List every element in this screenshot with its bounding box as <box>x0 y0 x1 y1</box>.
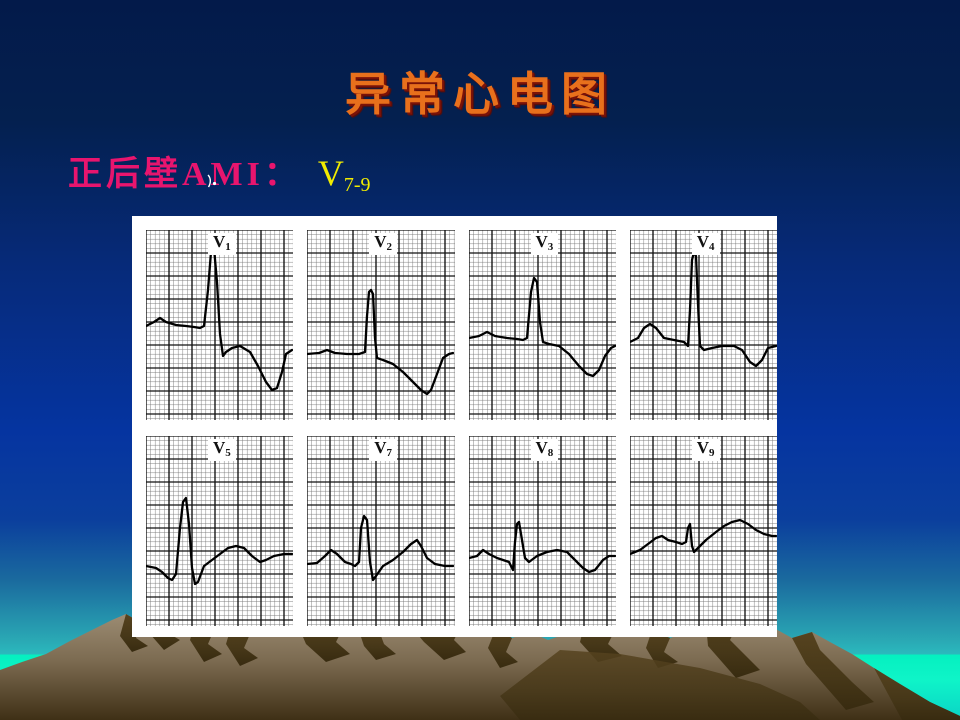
ecg-lead-label-v3: V3 <box>531 233 559 255</box>
lead-number: 7 <box>387 447 393 459</box>
subtitle-diagnosis-text: 正后壁AMI： <box>68 156 302 193</box>
ecg-lead-label-v1: V1 <box>208 233 236 255</box>
lead-letter: V <box>213 232 225 251</box>
ecg-lead-v8: V8 <box>469 436 616 626</box>
ecg-lead-label-v9: V9 <box>692 439 720 461</box>
ecg-lead-label-v7: V7 <box>369 439 397 461</box>
lead-letter: V <box>697 438 709 457</box>
lead-number: 5 <box>225 447 231 459</box>
lead-letter: V <box>536 232 548 251</box>
lead-number: 4 <box>709 241 715 253</box>
lead-number: 8 <box>548 447 554 459</box>
ecg-trace-v2 <box>307 230 454 420</box>
ecg-lead-label-v5: V5 <box>208 439 236 461</box>
ecg-trace-v7 <box>307 436 454 626</box>
page-title: 异常心电图 <box>0 58 960 124</box>
ecg-trace-v5 <box>146 436 293 626</box>
ecg-lead-label-v8: V8 <box>531 439 559 461</box>
ecg-lead-v4: V4 <box>630 230 777 420</box>
ecg-trace-v8 <box>469 436 616 626</box>
lead-letter: V <box>374 232 386 251</box>
ecg-lead-v7: V7 <box>307 436 454 626</box>
ecg-image-panel: V1 V2 V3 V4 V5 V7 V8 V9 <box>132 216 777 637</box>
ecg-lead-v3: V3 <box>469 230 616 420</box>
lead-range: 7-9 <box>344 174 371 196</box>
lead-letter: V <box>318 153 344 193</box>
lead-letter: V <box>536 438 548 457</box>
ecg-lead-label-v4: V4 <box>692 233 720 255</box>
ecg-lead-v1: V1 <box>146 230 293 420</box>
ecg-lead-v2: V2 <box>307 230 454 420</box>
ecg-row-bottom: V5 V7 V8 V9 <box>132 436 777 626</box>
lead-number: 3 <box>548 241 554 253</box>
ecg-row-top: V1 V2 V3 V4 <box>132 230 777 420</box>
lead-letter: V <box>697 232 709 251</box>
ecg-lead-label-v2: V2 <box>369 233 397 255</box>
lead-letter: V <box>213 438 225 457</box>
ecg-trace-v4 <box>630 230 777 420</box>
ecg-trace-v9 <box>630 436 777 626</box>
lead-number: 9 <box>709 447 715 459</box>
ecg-lead-v5: V5 <box>146 436 293 626</box>
ecg-trace-v1 <box>146 230 293 420</box>
ecg-lead-v9: V9 <box>630 436 777 626</box>
lead-number: 1 <box>225 241 231 253</box>
ecg-trace-v3 <box>469 230 616 420</box>
subtitle-lead-label: V7-9 <box>318 153 371 193</box>
subtitle-line: 正后壁AMI：V7-9 <box>68 155 371 195</box>
lead-number: 2 <box>387 241 393 253</box>
lead-letter: V <box>374 438 386 457</box>
slide-canvas: 异常心电图 正后壁AMI：V7-9 V1 V2 V3 V4 V5 V7 V8 V… <box>0 0 960 720</box>
